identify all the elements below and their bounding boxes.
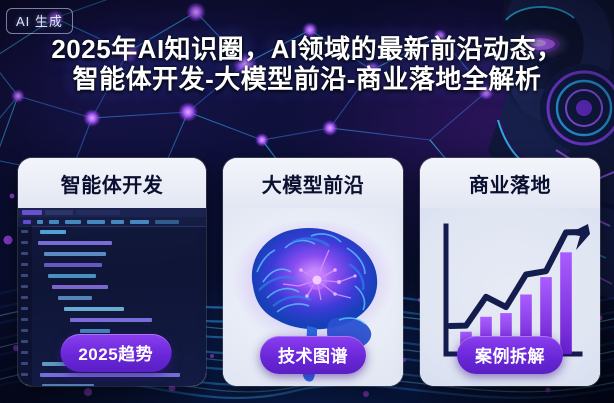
editor-path-label [76,210,120,215]
editor-tab [45,210,73,215]
editor-menu-item [23,220,31,224]
card-heading-text: 商业落地 [469,169,551,198]
editor-menu-item [155,220,179,224]
editor-line-number-gutter [18,226,32,386]
card-heading-large-model-frontier: 大模型前沿 [223,158,403,208]
title-line-2: 智能体开发-大模型前沿-商业落地全解析 [16,64,598,94]
pill-case-breakdown[interactable]: 案例拆解 [457,336,563,374]
editor-tab-active [22,210,42,215]
editor-menu-item [130,220,149,224]
poster-canvas: AI 生成 2025年AI知识圈，AI领域的最新前沿动态， 智能体开发-大模型前… [0,0,614,403]
card-large-model-frontier[interactable]: 大模型前沿 [223,158,403,386]
editor-menu-item [37,220,43,224]
title-line-1: 2025年AI知识圈，AI领域的最新前沿动态， [16,34,598,64]
ai-generated-badge: AI 生成 [6,8,73,34]
card-heading-text: 大模型前沿 [262,169,365,198]
card-heading-agent-development: 智能体开发 [18,158,206,208]
pill-tech-atlas[interactable]: 技术图谱 [260,336,366,374]
editor-menu-item [65,220,81,224]
page-title: 2025年AI知识圈，AI领域的最新前沿动态， 智能体开发-大模型前沿-商业落地… [0,34,614,94]
card-heading-commercial-landing: 商业落地 [420,158,600,208]
pill-2025-trend[interactable]: 2025趋势 [60,334,171,372]
card-commercial-landing[interactable]: 商业落地 案例拆 [420,158,600,386]
card-row: 智能体开发 [18,158,600,386]
chart-bar [560,252,572,354]
editor-menu-item [49,220,59,224]
card-agent-development[interactable]: 智能体开发 [18,158,206,386]
editor-menu-item [87,220,105,224]
card-heading-text: 智能体开发 [61,169,164,198]
editor-titlebar [18,208,206,217]
editor-menu-item [111,220,124,224]
